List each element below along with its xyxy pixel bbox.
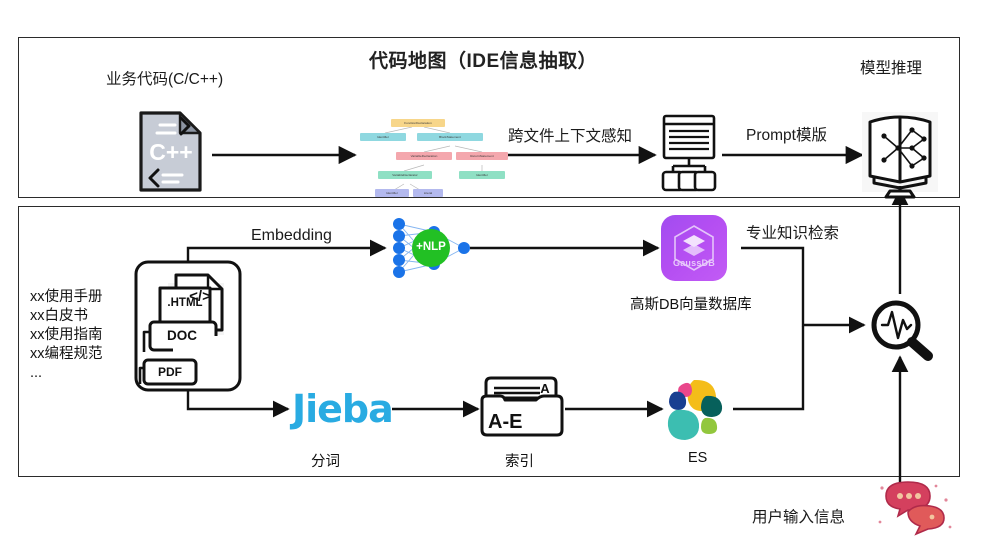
edge-label-embedding: Embedding (251, 226, 332, 246)
edge-label-knowledge-retrieval: 专业知识检索 (746, 224, 839, 243)
edge-label-cross-file-context: 跨文件上下文感知 (508, 127, 632, 146)
gaussdb-caption: 高斯DB向量数据库 (630, 293, 752, 314)
es-caption: ES (688, 450, 707, 466)
model-inference-label: 模型推理 (860, 59, 922, 78)
page-title: 代码地图（IDE信息抽取） (369, 46, 597, 73)
jieba-caption: 分词 (311, 450, 340, 471)
doc-icon-pdf-label: PDF (146, 365, 194, 379)
doc-icon-html-label: .HTML (162, 297, 208, 309)
nlp-badge-label: +NLP (412, 241, 450, 253)
gaussdb-wordmark: GaussDB (661, 258, 727, 268)
edge-label-prompt-template: Prompt模版 (746, 126, 827, 145)
ast-node-variable-declaration: VariableDeclaration (396, 152, 452, 160)
user-input-label: 用户输入信息 (752, 508, 845, 527)
diagram-canvas: 代码地图（IDE信息抽取） 业务代码(C/C++) 模型推理 跨文件上下文感知 … (0, 0, 982, 550)
cpp-icon-text: C++ (146, 139, 196, 166)
speech-bubble-icon-shape (879, 482, 952, 534)
jieba-logo: Jieba (292, 387, 393, 431)
ast-node-identifier-3: Identifier (375, 189, 409, 197)
ast-node-identifier-1: Identifier (360, 133, 406, 141)
index-box-letters: A-E (488, 411, 540, 434)
source-code-label: 业务代码(C/C++) (106, 70, 223, 89)
ast-node-function-declaration: FunctionDeclaration (391, 119, 445, 127)
ast-node-block-statement: BlockStatement (417, 133, 483, 141)
index-box-tab-letter: A (536, 381, 554, 396)
ast-node-literal: Literal (413, 189, 443, 197)
doc-icon-doc-label: DOC (152, 328, 212, 343)
ast-node-identifier-2: Identifier (459, 171, 505, 179)
document-type-list: xx使用手册 xx白皮书 xx使用指南 xx编程规范 ... (30, 288, 103, 383)
index-caption: 索引 (505, 450, 534, 471)
ast-node-variable-declarator: VariableDeclarator (378, 171, 432, 179)
ast-node-return-statement: ReturnStatement (456, 152, 508, 160)
gaussdb-hexagon-shape (661, 215, 727, 281)
